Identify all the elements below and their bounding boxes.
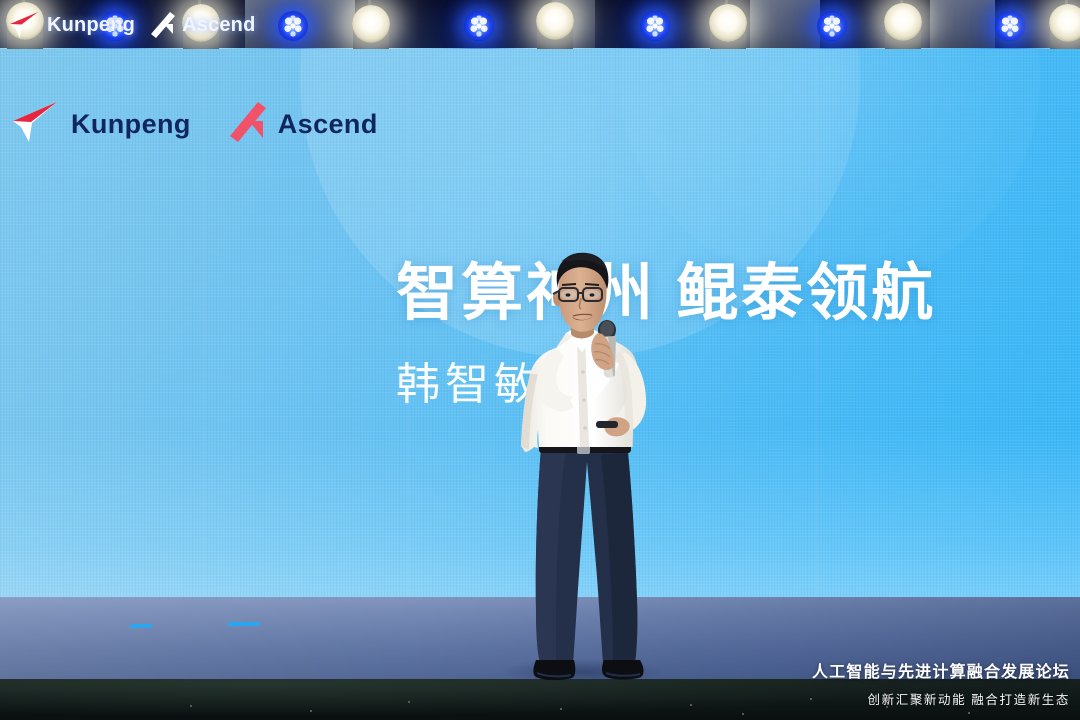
screen-logo-ascend-label: Ascend (278, 109, 378, 140)
blue-led-par-light (278, 11, 308, 41)
white-moving-head-spotlight (348, 5, 394, 49)
truss-logo-ascend-label: Ascend (182, 14, 255, 37)
screen-bottom-glow (0, 427, 1080, 597)
slide-title-block: 智算神州 鲲泰领航 韩智敏 (396, 261, 936, 412)
blue-led-par-light (817, 11, 847, 41)
white-moving-head-spotlight (705, 4, 751, 49)
kunpeng-bird-mark-icon (10, 100, 62, 149)
back-wall-panel (750, 0, 820, 49)
truss-brand-logos: Kunpeng Ascend (8, 8, 256, 42)
floor-tape-mark (227, 622, 261, 626)
slide-main-title: 智算神州 鲲泰领航 (396, 261, 936, 326)
blue-led-par-light (640, 11, 670, 41)
kunpeng-bird-mark-icon (8, 11, 42, 39)
screen-brand-logos: Kunpeng Ascend (10, 100, 378, 149)
screen-logo-kunpeng-label: Kunpeng (71, 109, 191, 140)
screen-logo-kunpeng: Kunpeng (10, 100, 191, 149)
stage-truss-band: Kunpeng Ascend (0, 0, 1080, 49)
white-moving-head-spotlight (532, 2, 578, 49)
slide-speaker-name: 韩智敏 (396, 348, 936, 412)
truss-logo-ascend: Ascend (149, 11, 255, 39)
event-watermark: 人工智能与先进计算融合发展论坛 创新汇聚新动能 融合打造新生态 (812, 658, 1070, 708)
ascend-a-mark-icon (227, 100, 269, 149)
floor-tape-mark (129, 624, 153, 628)
event-watermark-subtitle: 创新汇聚新动能 融合打造新生态 (812, 689, 1070, 708)
back-wall-panel (930, 0, 995, 49)
white-moving-head-spotlight (1045, 4, 1080, 49)
screen-logo-ascend: Ascend (227, 100, 378, 149)
white-moving-head-spotlight (880, 3, 926, 49)
blue-led-par-light (464, 11, 494, 41)
led-presentation-screen: Kunpeng Ascend 智算神州 鲲泰领航 韩智敏 (0, 48, 1080, 597)
truss-logo-kunpeng: Kunpeng (8, 11, 135, 39)
blue-led-par-light (995, 11, 1025, 41)
conference-stage-photo: Kunpeng Ascend (0, 0, 1080, 720)
event-watermark-title: 人工智能与先进计算融合发展论坛 (812, 658, 1070, 682)
truss-logo-kunpeng-label: Kunpeng (47, 14, 135, 37)
ascend-a-mark-icon (149, 11, 177, 39)
